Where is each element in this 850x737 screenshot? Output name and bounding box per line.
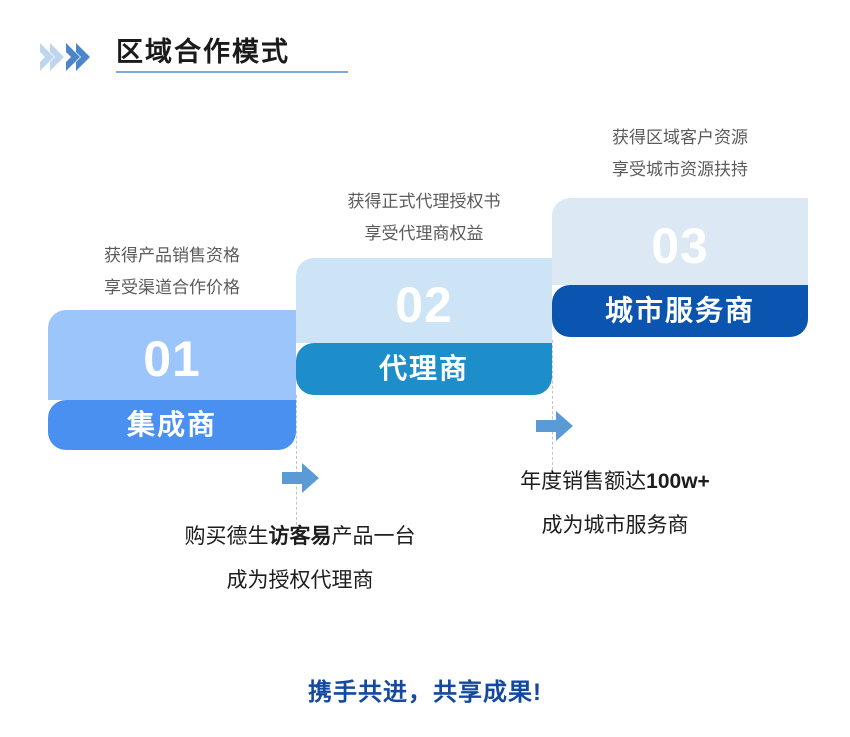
- requirement-line-2: 成为城市服务商: [460, 504, 770, 548]
- region-cooperation-model-diagram: 区域合作模式 获得产品销售资格 享受渠道合作价格 获得正式代理授权书 享受代理商…: [0, 0, 850, 737]
- requirement-text-suffix: 产品一台: [332, 525, 416, 548]
- title-underline: [116, 71, 348, 73]
- arrow-right-icon-2: [536, 411, 574, 446]
- benefit-line: 获得正式代理授权书: [296, 186, 552, 218]
- requirement-line-2: 成为授权代理商: [130, 559, 470, 603]
- step-1-label: 集成商: [127, 411, 217, 439]
- step-2-number: 02: [395, 280, 453, 330]
- benefit-line: 享受渠道合作价格: [48, 272, 296, 304]
- step-1-number-area: 01: [48, 310, 296, 400]
- step-2-label-band: 代理商: [296, 343, 552, 395]
- step-card-integrator[interactable]: 01 集成商: [48, 310, 296, 450]
- requirement-step-1-to-2: 购买德生访客易产品一台 成为授权代理商: [130, 515, 470, 603]
- step-3-label: 城市服务商: [605, 297, 755, 325]
- step-3-label-band: 城市服务商: [552, 285, 808, 337]
- step-2-label: 代理商: [379, 355, 469, 383]
- step-1-number: 01: [143, 334, 201, 384]
- step-2-number-area: 02: [296, 258, 552, 343]
- requirement-text-prefix: 购买德生: [185, 525, 269, 548]
- footer-slogan: 携手共进，共享成果!: [0, 672, 850, 707]
- requirement-line-1: 年度销售额达100w+: [460, 460, 770, 504]
- step-card-agent[interactable]: 02 代理商: [296, 258, 552, 395]
- requirement-text-strong: 100w+: [646, 470, 710, 493]
- step-2-benefits: 获得正式代理授权书 享受代理商权益: [296, 186, 552, 250]
- requirement-text-prefix: 年度销售额达: [520, 470, 646, 493]
- step-3-benefits: 获得区域客户资源 享受城市资源扶持: [552, 122, 808, 186]
- page-title: 区域合作模式: [116, 39, 290, 66]
- connector-dashed-line-1: [296, 395, 297, 525]
- requirement-line-1: 购买德生访客易产品一台: [130, 515, 470, 559]
- double-chevron-icon: [38, 36, 100, 76]
- step-1-label-band: 集成商: [48, 400, 296, 450]
- benefit-line: 获得区域客户资源: [552, 122, 808, 154]
- step-3-number: 03: [651, 221, 709, 271]
- connector-dashed-line-2: [552, 340, 553, 470]
- page-title-wrapper: 区域合作模式: [116, 39, 290, 73]
- requirement-text-strong: 访客易: [269, 525, 332, 548]
- diagram-header: 区域合作模式: [38, 36, 290, 76]
- benefit-line: 享受代理商权益: [296, 218, 552, 250]
- benefit-line: 享受城市资源扶持: [552, 154, 808, 186]
- benefit-line: 获得产品销售资格: [48, 240, 296, 272]
- step-card-city-service-provider[interactable]: 03 城市服务商: [552, 198, 808, 337]
- step-3-number-area: 03: [552, 198, 808, 285]
- arrow-right-icon-1: [282, 463, 320, 498]
- requirement-step-2-to-3: 年度销售额达100w+ 成为城市服务商: [460, 460, 770, 548]
- step-1-benefits: 获得产品销售资格 享受渠道合作价格: [48, 240, 296, 304]
